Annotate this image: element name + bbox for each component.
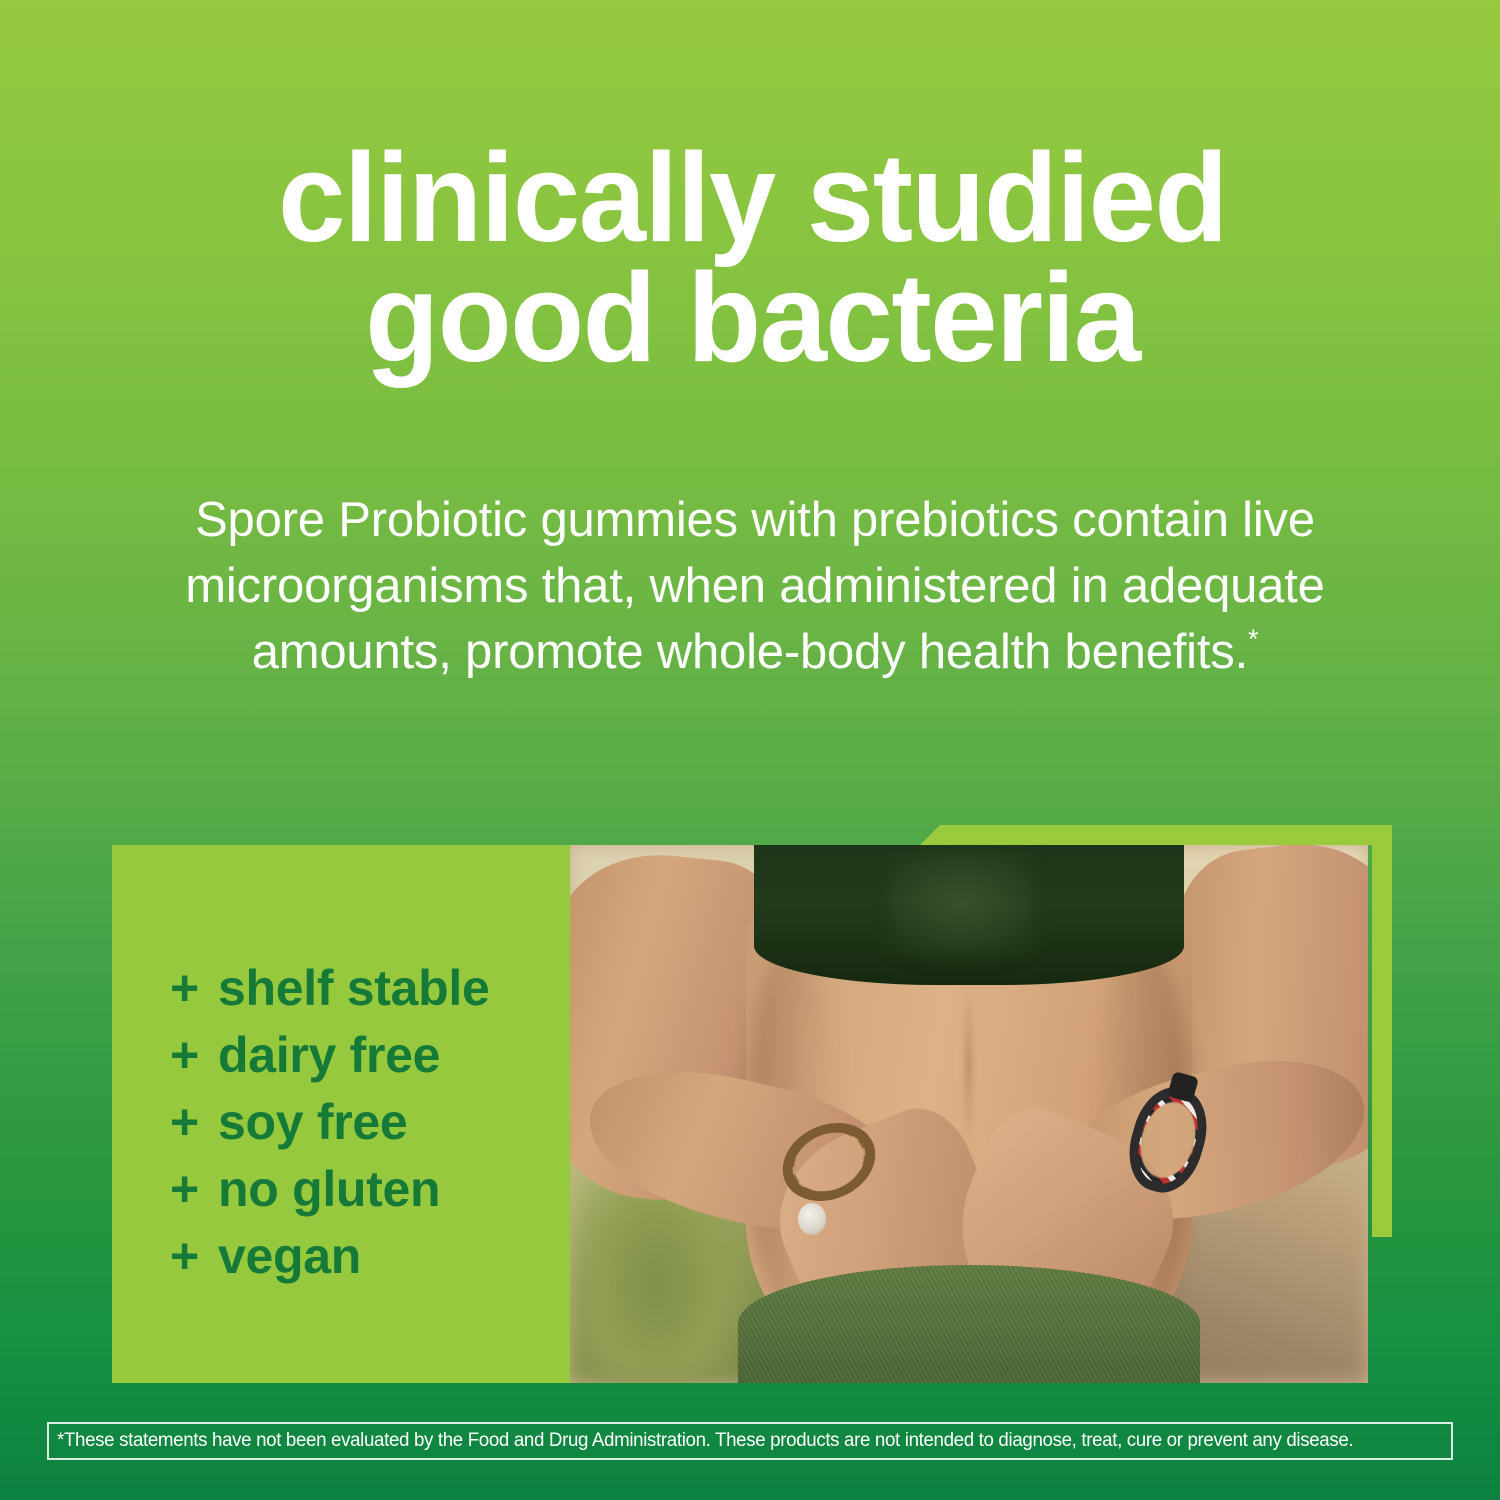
feature-label: shelf stable [218,955,490,1022]
body-line-1: Spore Probiotic gummies with prebiotics … [75,487,1435,553]
list-item: + shelf stable [170,955,570,1022]
plus-icon: + [170,1223,218,1290]
plus-icon: + [170,1089,218,1156]
footnote-asterisk: * [1248,624,1258,654]
body-paragraph: Spore Probiotic gummies with prebiotics … [75,487,1435,685]
list-item: + soy free [170,1089,570,1156]
fda-disclaimer-box: *These statements have not been evaluate… [47,1422,1453,1460]
torso-midline [965,985,972,1146]
feature-label: dairy free [218,1022,440,1089]
plus-icon: + [170,1022,218,1089]
plus-icon: + [170,1156,218,1223]
feature-list: + shelf stable + dairy free + soy free +… [170,955,570,1290]
leggings-texture [738,1265,1201,1383]
lifestyle-photo [570,845,1368,1383]
list-item: + vegan [170,1223,570,1290]
plus-icon: + [170,955,218,1022]
leggings [738,1265,1201,1383]
feature-label: soy free [218,1089,407,1156]
feature-label: no gluten [218,1156,440,1223]
page-title: clinically studied good bacteria [88,138,1418,377]
product-feature-banner: clinically studied good bacteria Spore P… [0,0,1500,1500]
body-line-3: amounts, promote whole-body health benef… [75,619,1435,685]
body-line-3-text: amounts, promote whole-body health benef… [252,625,1248,679]
body-line-2: microorganisms that, when administered i… [75,553,1435,619]
crop-top-highlight [889,850,1033,958]
fda-disclaimer-text: *These statements have not been evaluate… [57,1430,1353,1452]
list-item: + dairy free [170,1022,570,1089]
headline-line-1: clinically studied [88,138,1418,258]
list-item: + no gluten [170,1156,570,1223]
bracelet-charm [798,1203,826,1235]
feature-label: vegan [218,1223,361,1290]
photo-scene [570,845,1368,1383]
headline-line-2: good bacteria [88,258,1418,378]
